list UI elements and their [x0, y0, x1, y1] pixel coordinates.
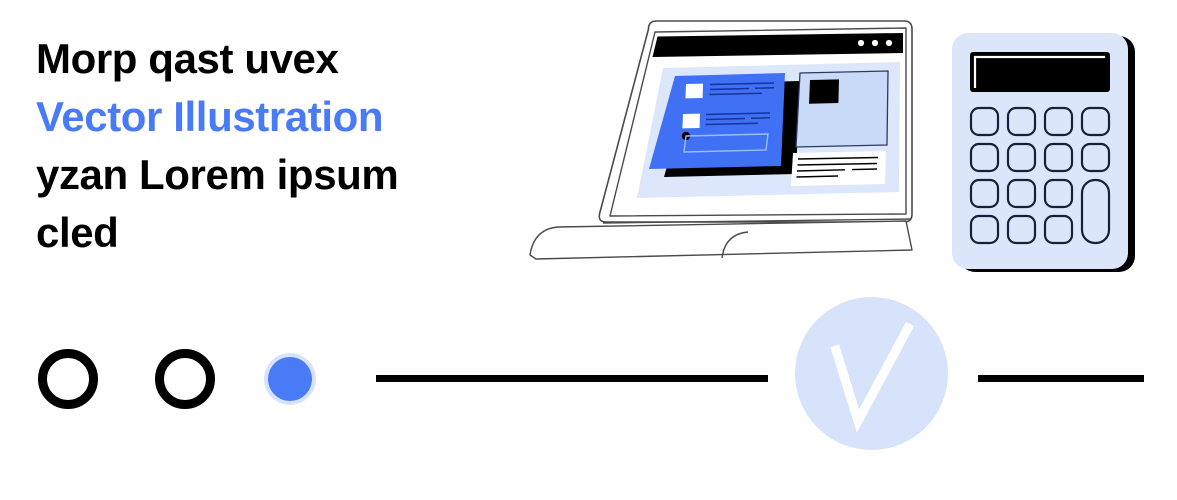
laptop-base [530, 221, 912, 259]
calculator-key-r2c4 [1082, 144, 1109, 171]
titlebar-dot-2 [872, 40, 878, 46]
calculator-key-r4c2 [1008, 216, 1035, 243]
check-badge-icon [795, 297, 948, 450]
laptop-titlebar [653, 33, 904, 57]
calculator-key-r1c1 [971, 108, 998, 135]
calculator-key-r3c2 [1008, 180, 1035, 207]
outline-circle-2-icon [155, 349, 215, 409]
checkbox-2-icon [682, 114, 700, 129]
calculator-illustration [945, 28, 1150, 278]
calculator-key-enter-tall [1082, 180, 1109, 243]
calculator-key-r3c3 [1045, 180, 1072, 207]
titlebar-dot-3 [886, 40, 892, 46]
divider-line-2 [978, 375, 1144, 382]
calculator-key-r2c3 [1045, 144, 1072, 171]
laptop-illustration [500, 18, 920, 278]
filled-dot-icon [268, 357, 312, 401]
calculator-key-r1c4 [1082, 108, 1109, 135]
side-panel-thumbnail [809, 79, 839, 103]
calculator-key-r4c1 [971, 216, 998, 243]
calculator-key-r4c3 [1045, 216, 1072, 243]
headline-line-1: Morp qast uvex [36, 30, 496, 88]
calculator-key-r2c1 [971, 144, 998, 171]
headline-line-3: yzan Lorem ipsum [36, 146, 496, 204]
calculator-key-r3c1 [971, 180, 998, 207]
page-title: Morp qast uvex Vector Illustration yzan … [36, 30, 496, 262]
calculator-key-r2c2 [1008, 144, 1035, 171]
calculator-key-r1c3 [1045, 108, 1072, 135]
check-badge-circle [795, 297, 948, 450]
illustration-canvas: Morp qast uvex Vector Illustration yzan … [0, 0, 1177, 500]
outline-circle-1-icon [38, 349, 98, 409]
divider-line-1 [376, 375, 768, 382]
headline-line-4: cled [36, 204, 496, 262]
side-panel-box [796, 71, 888, 147]
headline-line-2-accent: Vector Illustration [36, 88, 496, 146]
checkbox-1-icon [685, 84, 703, 99]
titlebar-dot-1 [858, 40, 864, 46]
calculator-key-r1c2 [1008, 108, 1035, 135]
